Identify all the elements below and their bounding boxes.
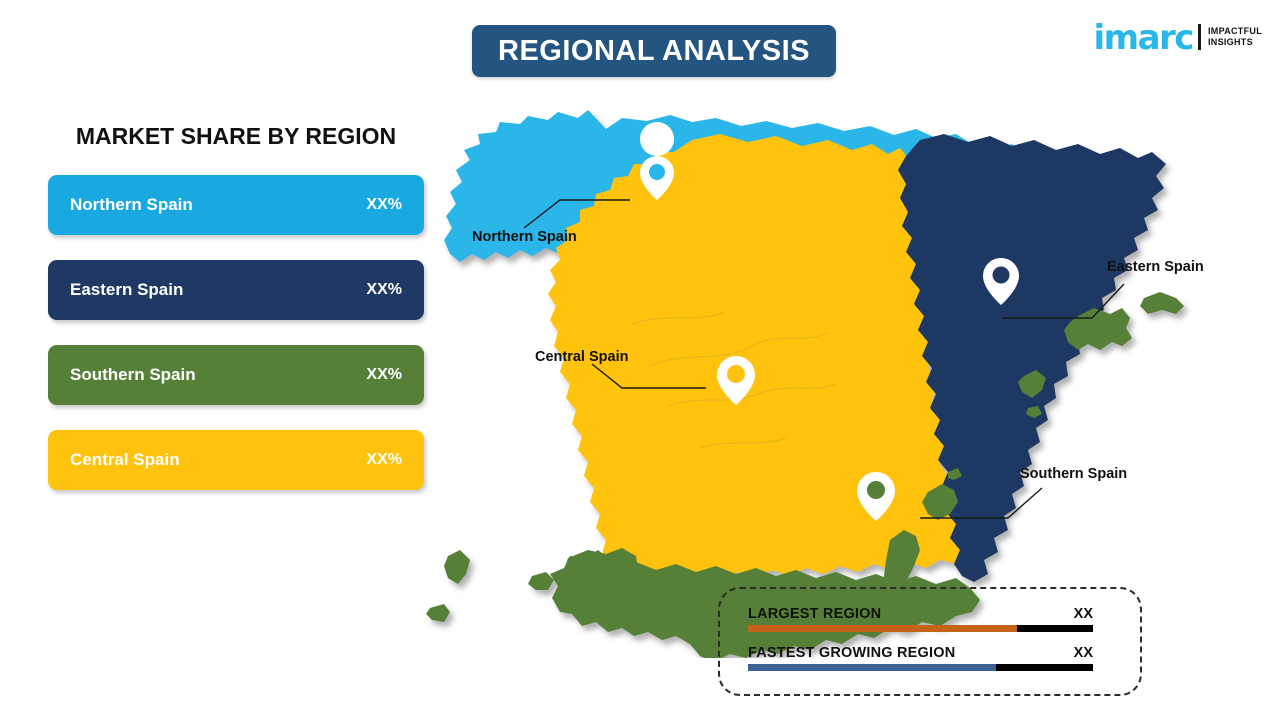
slide-canvas: REGIONAL ANALYSIS imarc IMPACTFUL INSIGH… (0, 0, 1280, 720)
share-bar-value: XX% (366, 451, 402, 469)
region-stats-box: LARGEST REGION XX FASTEST GROWING REGION… (718, 587, 1142, 696)
share-bar-northern-spain[interactable]: Northern Spain XX% (48, 175, 424, 235)
stat-progress-track (748, 625, 1093, 632)
map-island-la-palma (444, 550, 470, 584)
callout-label-northern-spain: Northern Spain (472, 229, 577, 245)
share-bar-southern-spain[interactable]: Southern Spain XX% (48, 345, 424, 405)
stat-value: XX (1074, 606, 1093, 622)
share-bar-label: Central Spain (70, 450, 180, 470)
map-island-menorca (1140, 292, 1184, 314)
map-island-la-gomera (528, 572, 554, 590)
callout-label-central-spain: Central Spain (535, 349, 628, 365)
logo-wordmark: imarc (1094, 21, 1193, 55)
stat-value: XX (1074, 645, 1093, 661)
share-bar-value: XX% (366, 196, 402, 214)
market-share-heading: MARKET SHARE BY REGION (48, 123, 424, 150)
stat-head: LARGEST REGION XX (748, 606, 1093, 622)
stat-label: LARGEST REGION (748, 606, 881, 622)
imarc-logo: imarc IMPACTFUL INSIGHTS (1094, 18, 1262, 56)
share-bar-label: Eastern Spain (70, 280, 183, 300)
map-island-el-hierro (426, 604, 450, 622)
logo-divider (1198, 24, 1201, 50)
logo-tagline: IMPACTFUL INSIGHTS (1208, 26, 1262, 48)
share-bar-label: Southern Spain (70, 365, 196, 385)
stat-head: FASTEST GROWING REGION XX (748, 645, 1093, 661)
logo-tagline-line1: IMPACTFUL (1208, 26, 1262, 36)
share-bar-label: Northern Spain (70, 195, 193, 215)
stat-progress-track (748, 664, 1093, 671)
spain-regional-map (400, 88, 1200, 658)
share-bar-value: XX% (366, 281, 402, 299)
page-title-banner: REGIONAL ANALYSIS (472, 25, 836, 77)
share-bar-central-spain[interactable]: Central Spain XX% (48, 430, 424, 490)
stat-progress-fill (748, 625, 1017, 632)
share-bar-eastern-spain[interactable]: Eastern Spain XX% (48, 260, 424, 320)
stat-label: FASTEST GROWING REGION (748, 645, 955, 661)
stat-row-largest-region: LARGEST REGION XX (748, 606, 1093, 632)
stat-row-fastest-growing-region: FASTEST GROWING REGION XX (748, 645, 1093, 671)
share-bar-value: XX% (366, 366, 402, 384)
callout-label-eastern-spain: Eastern Spain (1107, 259, 1204, 275)
stat-progress-fill (748, 664, 996, 671)
page-title: REGIONAL ANALYSIS (498, 35, 810, 68)
callout-label-southern-spain: Southern Spain (1020, 466, 1127, 482)
logo-tagline-line2: INSIGHTS (1208, 37, 1253, 47)
